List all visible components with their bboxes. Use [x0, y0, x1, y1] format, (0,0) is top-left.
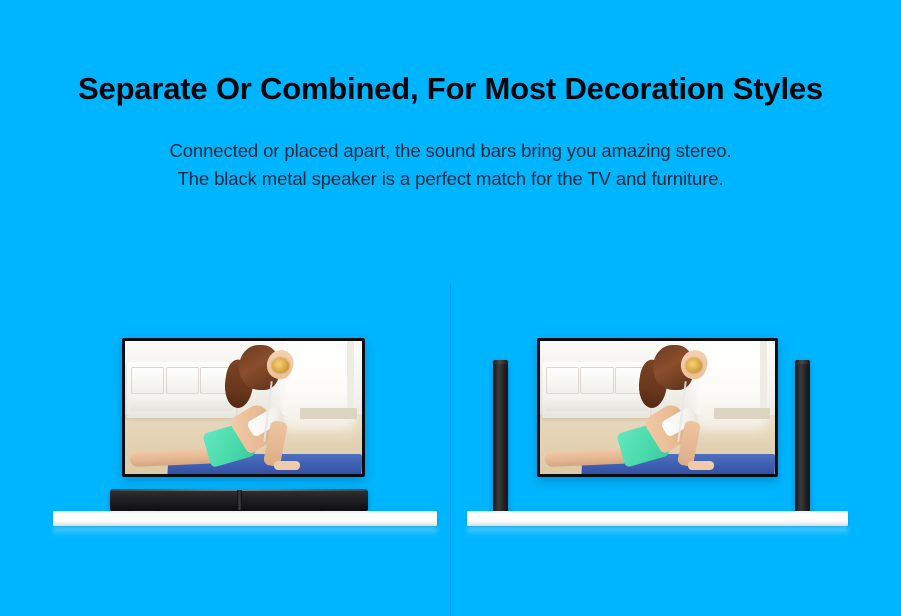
media-shelf-left [53, 511, 437, 526]
tower-speaker-cap [493, 360, 508, 364]
figure-hand [688, 461, 714, 470]
headphones-icon [272, 358, 289, 373]
media-shelf-right [467, 511, 848, 526]
product-banner: Separate Or Combined, For Most Decoratio… [0, 0, 901, 616]
tower-speaker-right [795, 360, 810, 512]
soundbar-center-seam [237, 490, 242, 510]
flat-screen-tv-right [537, 338, 778, 477]
figure-hand [274, 461, 300, 470]
combined-soundbar [110, 489, 368, 511]
yoga-figure [540, 341, 775, 474]
tower-speaker-cap [795, 360, 810, 364]
shelf-glow [467, 526, 848, 536]
panel-separate [451, 0, 901, 616]
panel-combined [0, 0, 450, 616]
headphones-icon [686, 358, 702, 373]
flat-screen-tv-left [122, 338, 365, 477]
tv-screen-right [540, 341, 775, 474]
tower-speaker-left [493, 360, 508, 512]
tv-screen-left [125, 341, 362, 474]
yoga-figure [125, 341, 362, 474]
shelf-glow [53, 526, 437, 536]
